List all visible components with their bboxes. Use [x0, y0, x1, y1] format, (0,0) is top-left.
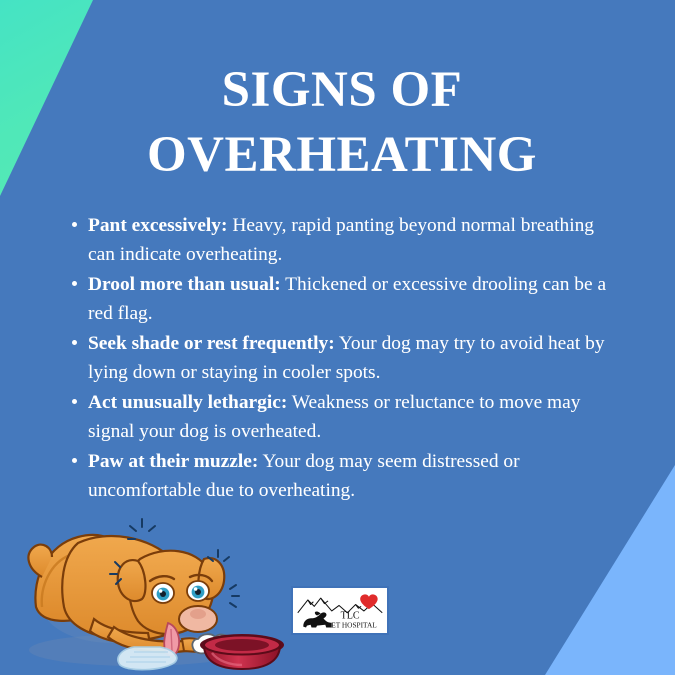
- sign-lead: Paw at their muzzle:: [88, 451, 258, 472]
- drool-puddle: [118, 647, 177, 670]
- page-title: SIGNS OF OVERHEATING: [92, 58, 592, 188]
- signs-list: Pant excessively: Heavy, rapid panting b…: [64, 212, 620, 507]
- dog-ear-left: [118, 560, 146, 601]
- list-item: Paw at their muzzle: Your dog may seem d…: [64, 448, 620, 505]
- logo-name-line-2: PET HOSPITAL: [327, 620, 377, 629]
- overheated-dog-illustration: [22, 515, 284, 673]
- sign-lead: Drool more than usual:: [88, 274, 281, 295]
- list-item: Pant excessively: Heavy, rapid panting b…: [64, 212, 620, 269]
- list-item: Drool more than usual: Thickened or exce…: [64, 271, 620, 328]
- food-bowl: [200, 634, 284, 669]
- list-item: Seek shade or rest frequently: Your dog …: [64, 330, 620, 387]
- sign-lead: Pant excessively:: [88, 215, 227, 236]
- infographic-poster: SIGNS OF OVERHEATING Pant excessively: H…: [0, 0, 675, 675]
- list-item: Act unusually lethargic: Weakness or rel…: [64, 389, 620, 446]
- sign-lead: Act unusually lethargic:: [88, 392, 287, 413]
- corner-wedge-teal: [0, 0, 100, 200]
- title-line-2: OVERHEATING: [92, 123, 592, 188]
- sign-lead: Seek shade or rest frequently:: [88, 333, 335, 354]
- title-line-1: SIGNS OF: [92, 58, 592, 123]
- clinic-logo: TLC PET HOSPITAL: [291, 586, 389, 635]
